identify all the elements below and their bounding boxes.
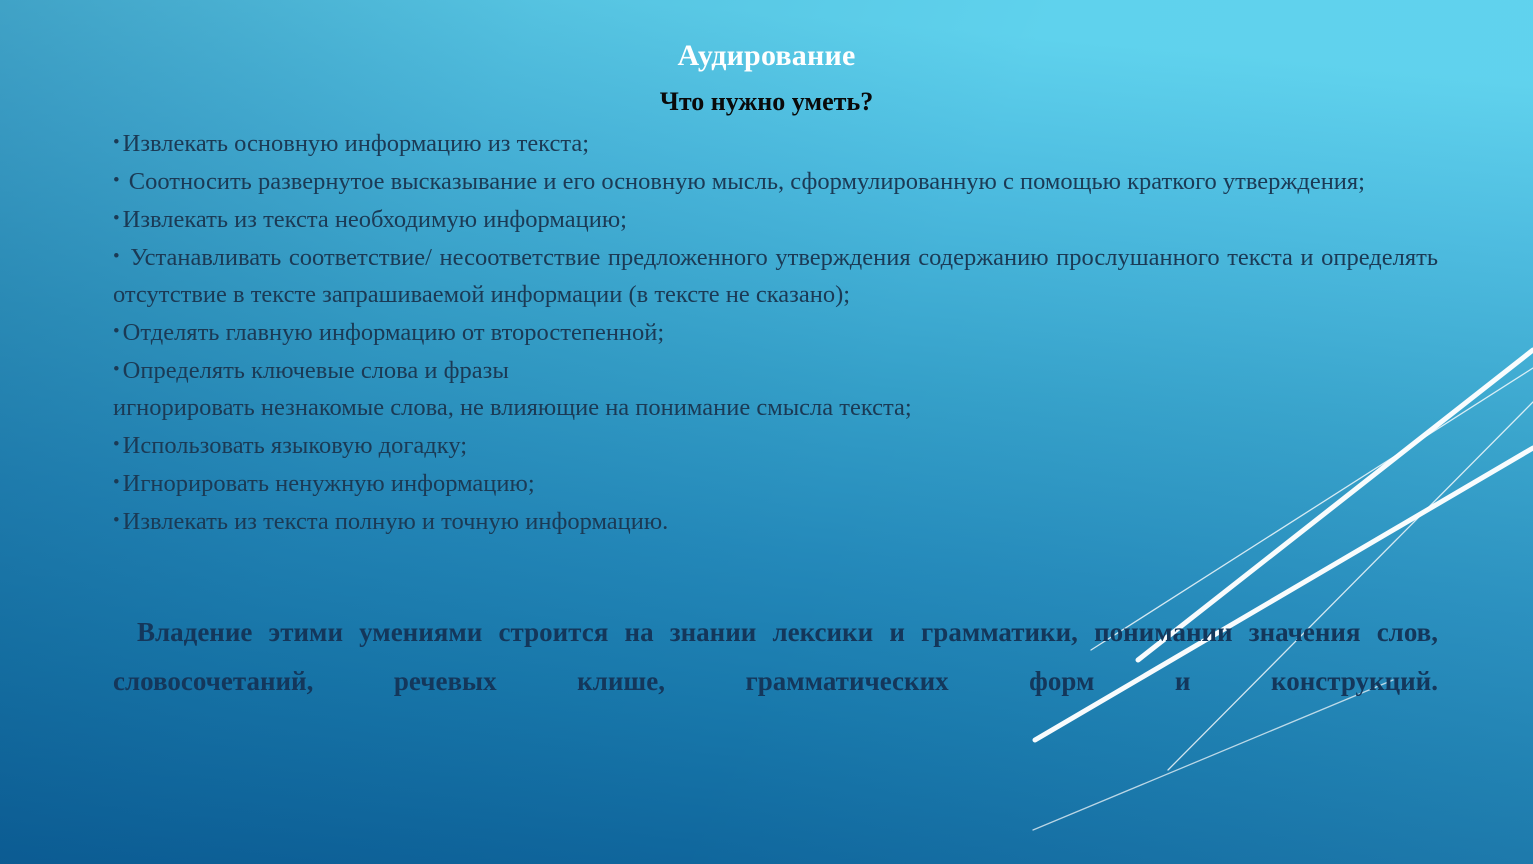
list-item-label: Извлекать основную информацию из текста; xyxy=(123,130,589,157)
list-item-label: Отделять главную информацию от второстеп… xyxy=(123,319,665,346)
bullet-dot-icon: • xyxy=(113,434,123,455)
list-item: •Игнорировать ненужную информацию; xyxy=(113,464,1438,502)
list-item-label: Определять ключевые слова и фразы xyxy=(123,357,509,384)
bullet-dot-icon: • xyxy=(113,132,123,153)
list-item: •Отделять главную информацию от второсте… xyxy=(113,313,1438,351)
list-item-label: Использовать языковую догадку; xyxy=(123,432,467,459)
list-item: •Извлекать из текста необходимую информа… xyxy=(113,200,1438,238)
bullet-dot-icon: • xyxy=(113,510,123,531)
list-item-label: Извлекать из текста полную и точную инфо… xyxy=(123,508,669,535)
bullet-dot-icon: • xyxy=(113,472,123,493)
bullet-dot-icon: • xyxy=(113,321,123,342)
list-item-label: Игнорировать ненужную информацию; xyxy=(123,470,535,497)
list-item: •Извлекать из текста полную и точную инф… xyxy=(113,502,1438,540)
page-title: Аудирование xyxy=(0,36,1533,76)
list-item: • Соотносить развернутое высказывание и … xyxy=(113,162,1438,200)
slide-content: Аудирование Что нужно уметь? •Извлекать … xyxy=(0,0,1533,864)
slide-canvas: Аудирование Что нужно уметь? •Извлекать … xyxy=(0,0,1533,864)
list-item: •Определять ключевые слова и фразы xyxy=(113,351,1438,389)
bullet-dot-icon: • xyxy=(113,170,123,191)
list-item: •Использовать языковую догадку; xyxy=(113,426,1438,464)
skills-list: •Извлекать основную информацию из текста… xyxy=(113,124,1438,540)
list-item: • Устанавливать соответствие/ несоответс… xyxy=(113,238,1438,313)
bullet-dot-icon: • xyxy=(113,359,123,380)
list-item-continuation-label: игнорировать незнакомые слова, не влияющ… xyxy=(113,394,912,421)
page-subtitle: Что нужно уметь? xyxy=(0,84,1533,120)
closing-paragraph: Владение этими умениями строится на знан… xyxy=(113,608,1438,755)
list-item-label: Извлекать из текста необходимую информац… xyxy=(123,206,627,233)
bullet-dot-icon: • xyxy=(113,246,123,267)
bullet-dot-icon: • xyxy=(113,208,123,229)
list-item-label: Устанавливать соответствие/ несоответств… xyxy=(113,244,1438,308)
list-item-continuation: игнорировать незнакомые слова, не влияющ… xyxy=(113,389,1438,426)
list-item-label: Соотносить развернутое высказывание и ег… xyxy=(129,168,1365,195)
list-item: •Извлекать основную информацию из текста… xyxy=(113,124,1438,162)
